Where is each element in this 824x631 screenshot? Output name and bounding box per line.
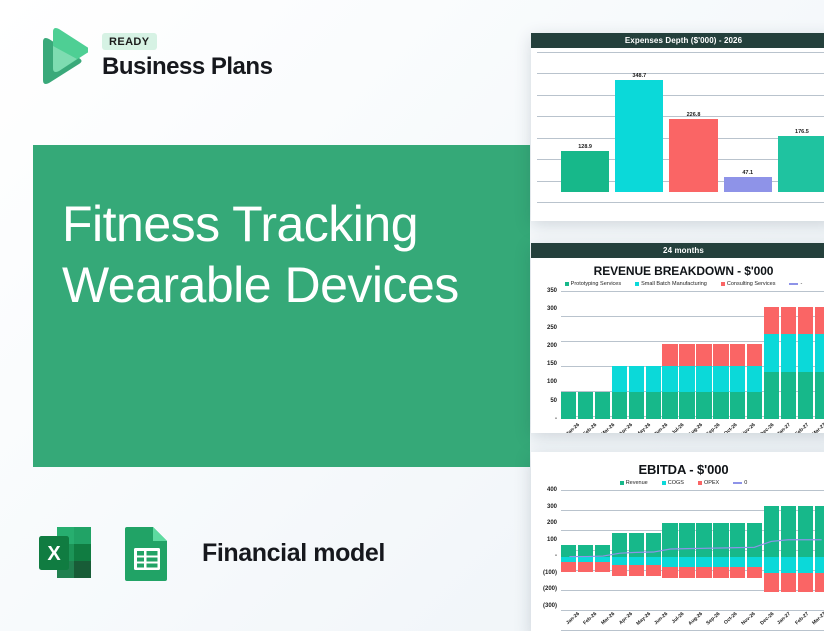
bar-segment — [679, 344, 694, 366]
play-logo-icon — [33, 28, 88, 86]
bar-segment — [595, 392, 610, 419]
bar — [561, 151, 609, 192]
legend-item: Small Batch Manufacturing — [635, 281, 707, 287]
bar-column — [696, 291, 711, 419]
bar-column: 348.7 — [615, 64, 663, 192]
legend-label: Prototyping Services — [571, 281, 621, 287]
legend-label: COGS — [668, 480, 684, 486]
bar-segment — [781, 307, 796, 334]
financial-model-label: Financial model — [202, 539, 385, 568]
bar-column — [747, 291, 762, 419]
y-tick: 250 — [547, 325, 557, 331]
legend-swatch — [698, 481, 702, 485]
y-axis-ebitda: 400300200100-(100)(200)(300) — [535, 490, 559, 630]
bar-segment — [612, 366, 627, 392]
y-tick: 200 — [547, 520, 557, 526]
microsoft-excel-icon: X — [33, 521, 97, 585]
legend-item: - — [789, 281, 802, 287]
bar-column — [713, 291, 728, 419]
bar-column — [662, 291, 677, 419]
legend-label: OPEX — [704, 480, 719, 486]
bar-segment — [646, 366, 661, 392]
bar-segment — [815, 307, 824, 334]
chart-header-revenue: 24 months — [531, 243, 824, 258]
bar-value-label: 226.8 — [669, 112, 717, 118]
bar-segment — [679, 392, 694, 419]
bar-segment — [696, 366, 711, 392]
y-tick: 300 — [547, 306, 557, 312]
legend-ebitda: RevenueCOGSOPEX0 — [531, 477, 824, 488]
legend-item: 0 — [733, 480, 747, 486]
legend-item: OPEX — [698, 480, 719, 486]
bar-segment — [713, 366, 728, 392]
y-tick: - — [555, 553, 557, 559]
bar-column — [561, 291, 576, 419]
bar-segment — [764, 372, 779, 419]
bar-value-label: 348.7 — [615, 73, 663, 79]
zero-trend-line — [561, 490, 824, 608]
legend-label: Small Batch Manufacturing — [641, 281, 707, 287]
bar-column — [578, 291, 593, 419]
chart-card-revenue[interactable]: 24 months REVENUE BREAKDOWN - $'000 Prot… — [531, 243, 824, 433]
legend-label: Consulting Services — [727, 281, 776, 287]
bar-column — [798, 291, 813, 419]
bar-segment — [730, 344, 745, 366]
bar-segment — [815, 334, 824, 372]
legend-swatch — [789, 283, 798, 285]
revenue-bars — [561, 291, 824, 419]
legend-swatch — [662, 481, 666, 485]
chart-title-ebitda: EBITDA - $'000 — [531, 452, 824, 477]
chart-card-expenses[interactable]: Expenses Depth ($'000) - 2026 128.9348.7… — [531, 33, 824, 221]
legend-item: Revenue — [620, 480, 648, 486]
bar-segment — [629, 366, 644, 392]
bar-value-label: 176.5 — [778, 129, 824, 135]
svg-text:X: X — [47, 543, 61, 565]
bar-segment — [696, 392, 711, 419]
bar — [724, 177, 772, 192]
y-tick: (300) — [543, 603, 557, 609]
bar-column: 176.5 — [778, 64, 824, 192]
y-axis-revenue: 35030025020015010050- — [535, 291, 559, 433]
x-axis-ebitda: Jan-26Feb-26Mar-26Apr-26May-26Jun-26Jul-… — [561, 608, 824, 630]
legend-swatch — [721, 282, 725, 286]
bar-segment — [612, 392, 627, 419]
bar-segment — [764, 307, 779, 334]
bar-value-label: 128.9 — [561, 144, 609, 150]
bar-segment — [662, 392, 677, 419]
bar-segment — [713, 392, 728, 419]
page-title: Fitness Tracking Wearable Devices — [62, 194, 510, 316]
bar-segment — [764, 334, 779, 372]
bar-segment — [578, 392, 593, 419]
bar-segment — [629, 392, 644, 419]
y-tick: 350 — [547, 288, 557, 294]
bar-segment — [747, 344, 762, 366]
bar-segment — [781, 334, 796, 372]
y-tick: 100 — [547, 537, 557, 543]
bar-segment — [730, 392, 745, 419]
bar-segment — [679, 366, 694, 392]
expenses-bars: 128.9348.7226.847.1176.5 — [561, 64, 824, 192]
legend-swatch — [620, 481, 624, 485]
bar-column — [679, 291, 694, 419]
bar-segment — [798, 307, 813, 334]
bar-column — [764, 291, 779, 419]
legend-swatch — [733, 482, 742, 484]
bar-segment — [798, 372, 813, 419]
chart-header-expenses: Expenses Depth ($'000) - 2026 — [531, 33, 824, 48]
y-tick: 50 — [550, 398, 557, 404]
bar-value-label: 47.1 — [724, 170, 772, 176]
bar-column — [629, 291, 644, 419]
gridline — [537, 202, 824, 203]
brand-logo: READY Business Plans — [33, 28, 272, 86]
bar-segment — [747, 366, 762, 392]
legend-label: 0 — [744, 480, 747, 486]
legend-swatch — [565, 282, 569, 286]
hero-block: Fitness Tracking Wearable Devices — [33, 145, 530, 467]
ebitda-plot: 400300200100-(100)(200)(300) Jan-26Feb-2… — [535, 490, 824, 630]
y-tick: 100 — [547, 379, 557, 385]
bar-column — [646, 291, 661, 419]
legend-revenue: Prototyping ServicesSmall Batch Manufact… — [531, 278, 824, 289]
legend-item: Prototyping Services — [565, 281, 621, 287]
legend-item: Consulting Services — [721, 281, 776, 287]
footer-formats: X Financial model — [33, 521, 385, 585]
bar-segment — [730, 366, 745, 392]
y-tick: 150 — [547, 361, 557, 367]
bar-segment — [798, 334, 813, 372]
bar-column — [781, 291, 796, 419]
bar-column — [595, 291, 610, 419]
expenses-plot: 128.9348.7226.847.1176.5 — [537, 52, 824, 202]
bar-column: 226.8 — [669, 64, 717, 192]
x-tick: Mar-27 — [812, 422, 824, 433]
bar-column: 128.9 — [561, 64, 609, 192]
bar-segment — [646, 392, 661, 419]
bar-segment — [696, 344, 711, 366]
bar-segment — [561, 392, 576, 419]
legend-swatch — [635, 282, 639, 286]
y-tick: 200 — [547, 343, 557, 349]
legend-item: COGS — [662, 480, 684, 486]
y-tick: - — [555, 416, 557, 422]
gridline — [537, 52, 824, 53]
bar-segment — [662, 344, 677, 366]
google-sheets-icon — [115, 521, 179, 585]
bar-segment — [781, 372, 796, 419]
y-tick: 300 — [547, 504, 557, 510]
bar-column — [612, 291, 627, 419]
bar-column — [815, 291, 824, 419]
bar-column — [730, 291, 745, 419]
x-axis-revenue: Jan-26Feb-26Mar-26Apr-26May-26Jun-26Jul-… — [561, 419, 824, 433]
legend-label: - — [800, 281, 802, 287]
bar — [615, 80, 663, 192]
plot-area — [561, 291, 824, 433]
bar-segment — [662, 366, 677, 392]
ready-badge: READY — [102, 33, 157, 50]
bar — [778, 136, 824, 192]
bar-column: 47.1 — [724, 64, 772, 192]
brand-name: Business Plans — [102, 53, 272, 81]
bar-segment — [815, 372, 824, 419]
y-tick: 400 — [547, 487, 557, 493]
y-tick: (100) — [543, 570, 557, 576]
chart-card-ebitda[interactable]: EBITDA - $'000 RevenueCOGSOPEX0 40030020… — [531, 452, 824, 631]
bar-segment — [747, 392, 762, 419]
bar — [669, 119, 717, 192]
chart-title-revenue: REVENUE BREAKDOWN - $'000 — [531, 258, 824, 278]
legend-label: Revenue — [626, 480, 648, 486]
bar-segment — [713, 344, 728, 366]
revenue-plot: 35030025020015010050- Jan-26Feb-26Mar-26… — [535, 291, 824, 433]
y-tick: (200) — [543, 586, 557, 592]
